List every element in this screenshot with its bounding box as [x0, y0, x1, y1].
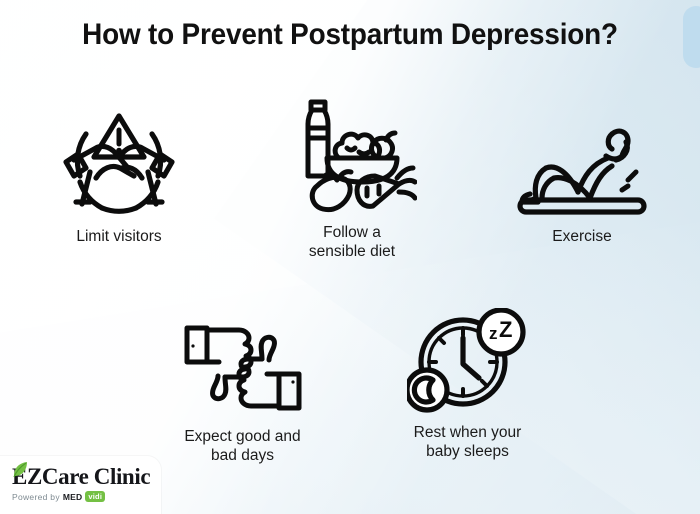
leaf-icon — [11, 461, 29, 478]
tip-label: Expect good and bad days — [155, 427, 330, 465]
tip-card-exercise: Exercise — [502, 100, 662, 246]
tip-label: Exercise — [502, 227, 662, 246]
infographic-canvas: How to Prevent Postpartum Depression? — [0, 0, 700, 514]
logo-powered-by: Powered by MED vidi — [12, 491, 150, 502]
tip-card-rest-when-baby-sleeps: z Z Rest when your baby sleeps — [380, 296, 555, 461]
tips-grid: Limit visitors — [0, 0, 700, 514]
sit-up-exercise-icon — [502, 100, 662, 220]
tip-label: Limit visitors — [39, 227, 199, 246]
clock-sleep-moon-icon: z Z — [380, 296, 555, 416]
tip-label: Follow a sensible diet — [272, 223, 432, 261]
handshake-warning-icon — [39, 100, 199, 220]
page-title: How to Prevent Postpartum Depression? — [25, 18, 676, 52]
thumbs-down-thumbs-up-icon — [155, 300, 330, 420]
brand-vidi-badge: vidi — [85, 491, 105, 502]
healthy-food-bottle-vegetables-icon — [272, 96, 432, 216]
svg-text:z: z — [489, 324, 498, 343]
logo-accent-strip — [683, 6, 700, 68]
logo-name: EZCare Clinic — [12, 464, 150, 490]
powered-by-text: Powered by — [12, 492, 60, 502]
tip-card-good-and-bad-days: Expect good and bad days — [155, 300, 330, 465]
logo-card[interactable]: EZCare Clinic Powered by MED vidi — [0, 456, 161, 514]
brand-med-text: MED — [63, 492, 83, 502]
tip-label: Rest when your baby sleeps — [380, 423, 555, 461]
tip-card-sensible-diet: Follow a sensible diet — [272, 96, 432, 261]
tip-card-limit-visitors: Limit visitors — [39, 100, 199, 246]
svg-text:Z: Z — [499, 317, 512, 342]
